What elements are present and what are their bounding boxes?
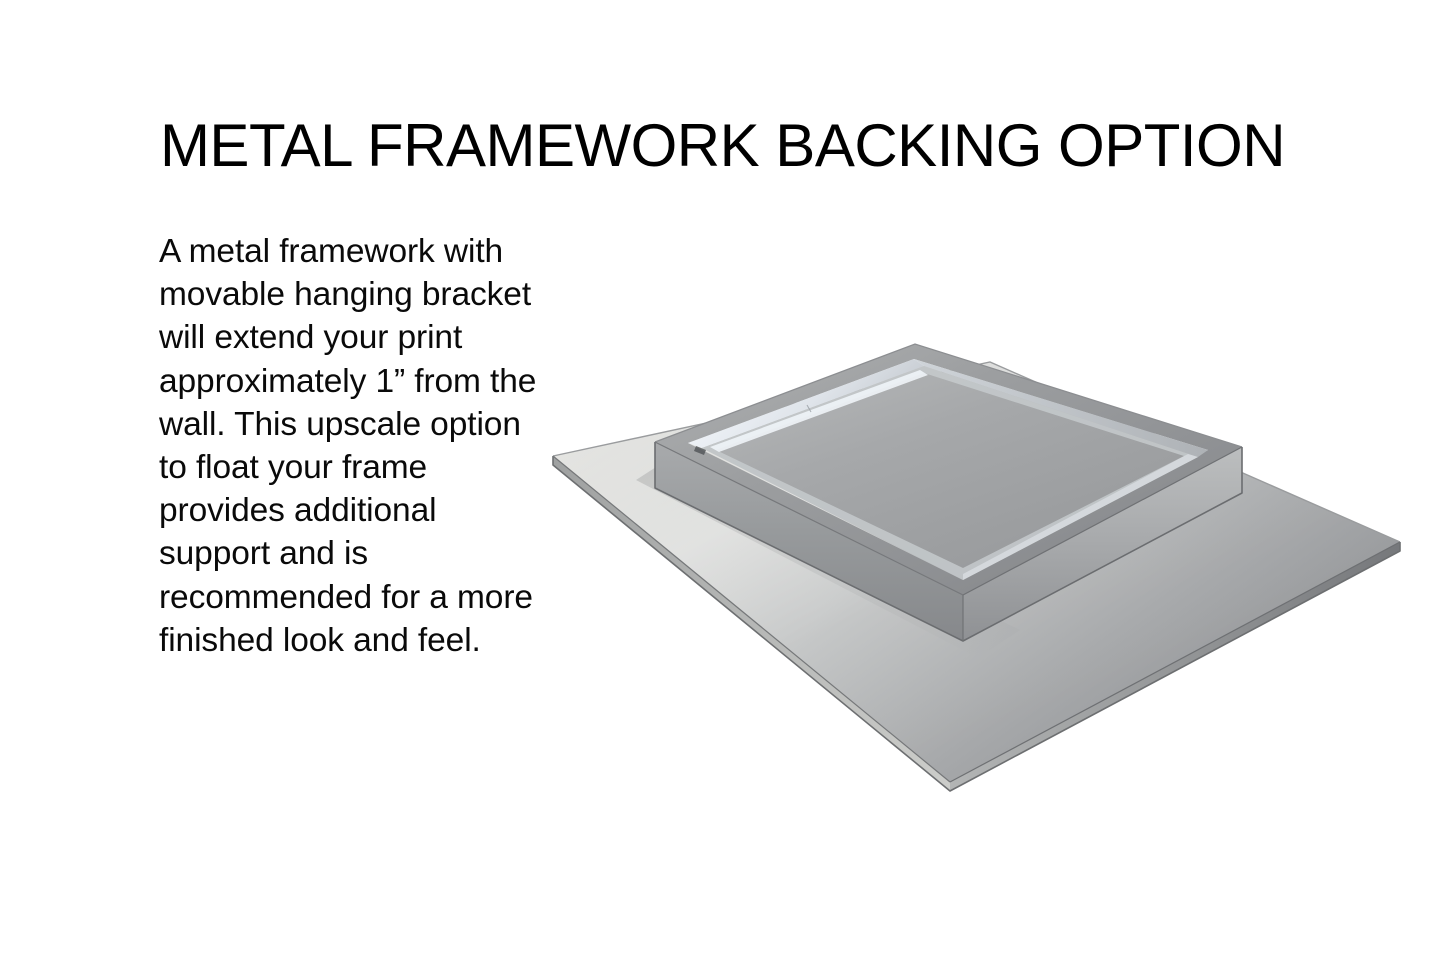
description-text: A metal framework with movable hanging b… (159, 230, 539, 662)
metal-framework-illustration (520, 330, 1420, 820)
slide-canvas: METAL FRAMEWORK BACKING OPTION A metal f… (0, 0, 1445, 963)
page-title: METAL FRAMEWORK BACKING OPTION (0, 114, 1445, 177)
product-image (520, 330, 1420, 820)
